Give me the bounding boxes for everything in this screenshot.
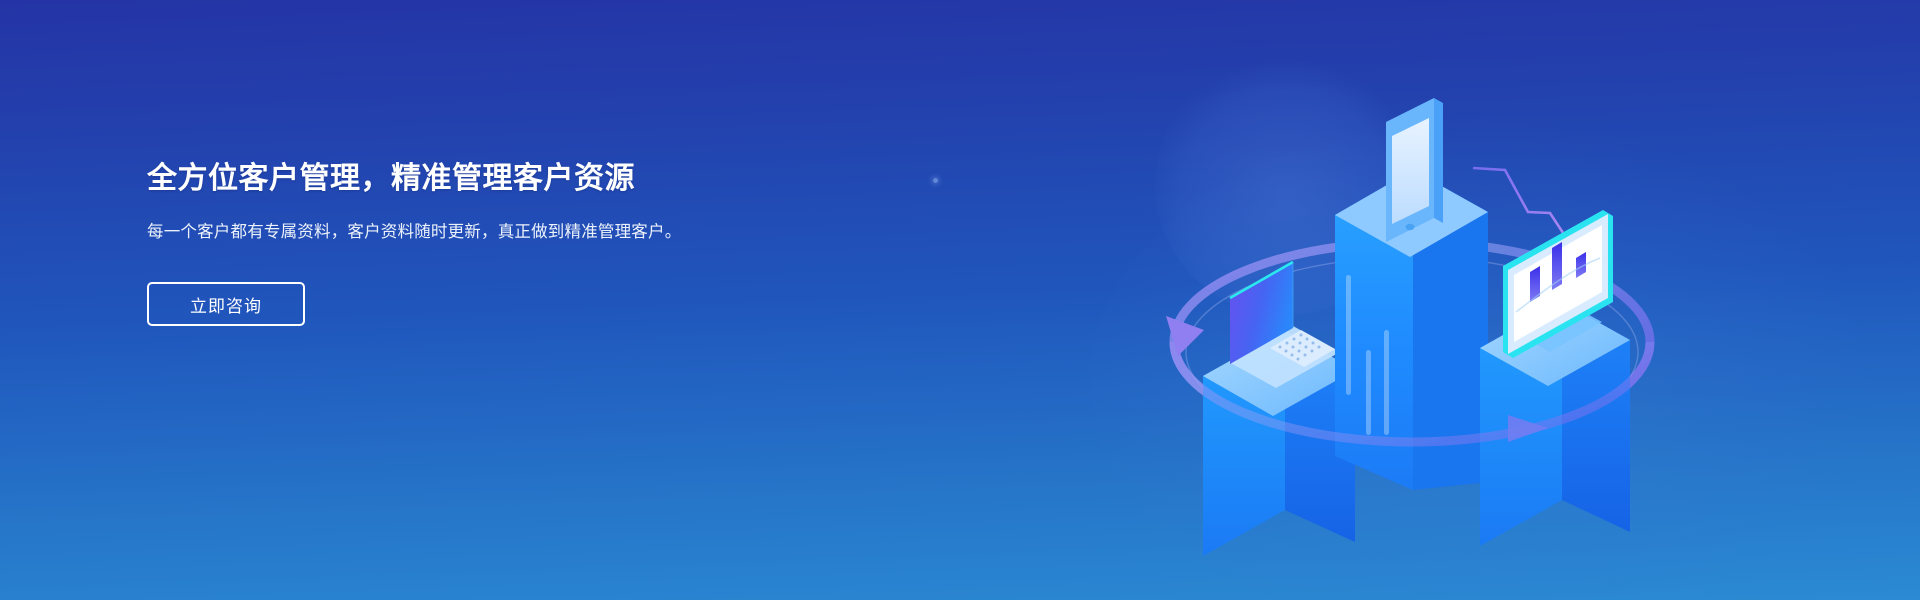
hero-banner: 全方位客户管理，精准管理客户资源 每一个客户都有专属资料，客户资料随时更新，真正… [0,0,1920,600]
page-title: 全方位客户管理，精准管理客户资源 [147,160,787,198]
hero-copy-block: 全方位客户管理，精准管理客户资源 每一个客户都有专属资料，客户资料随时更新，真正… [147,160,787,326]
hero-subtext: 每一个客户都有专属资料，客户资料随时更新，真正做到精准管理客户。 [147,220,737,246]
pillar-center-group [1335,98,1488,490]
pillar-right-group [1480,210,1630,546]
hero-illustration [1130,30,1690,590]
consult-now-button[interactable]: 立即咨询 [147,282,305,326]
sparkle-dot-icon [933,178,938,183]
